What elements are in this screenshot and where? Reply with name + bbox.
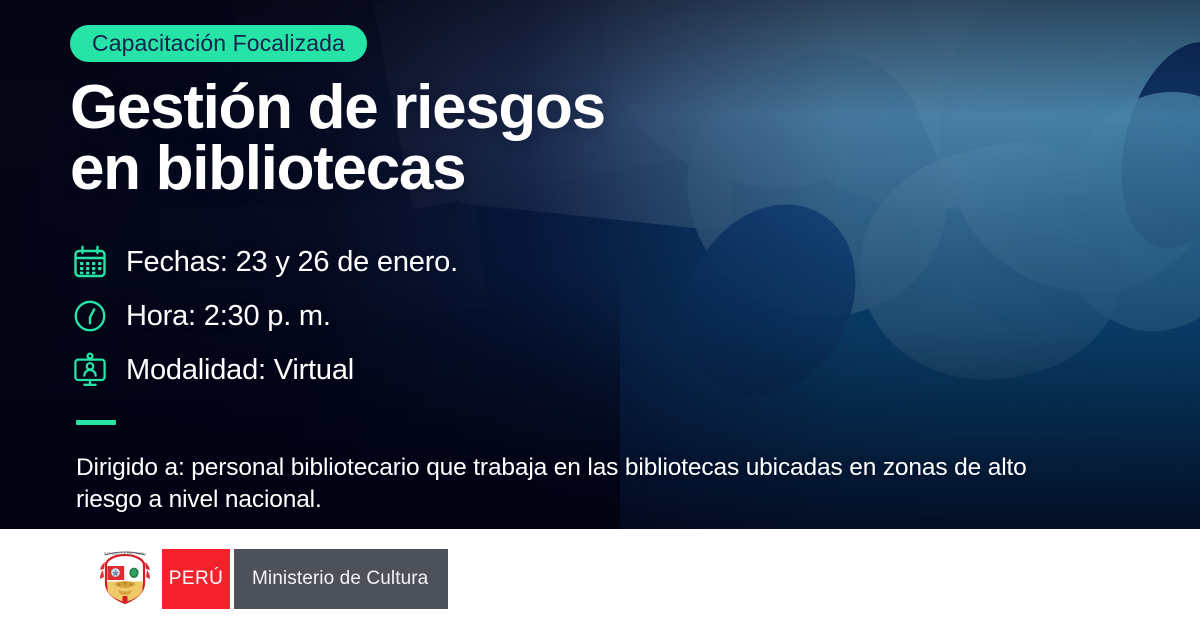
clock-icon bbox=[70, 296, 110, 336]
page-title-line-1: Gestión de riesgos bbox=[70, 78, 790, 139]
hero-banner: Capacitación Focalizada Gestión de riesg… bbox=[0, 0, 1200, 529]
ministry-label: Ministerio de Cultura bbox=[234, 549, 448, 609]
page-title: Gestión de riesgos en bibliotecas bbox=[70, 78, 790, 200]
category-badge: Capacitación Focalizada bbox=[70, 25, 367, 62]
detail-row-modality: Modalidad: Virtual bbox=[70, 344, 458, 396]
detail-row-time: Hora: 2:30 p. m. bbox=[70, 290, 458, 342]
event-details-list: Fechas: 23 y 26 de enero. Hora: 2:30 p. … bbox=[70, 236, 458, 398]
ministry-logo: REPUBLICA DEL PERU PERÚ Ministerio de Cu… bbox=[96, 549, 448, 609]
detail-text-time: Hora: 2:30 p. m. bbox=[126, 300, 331, 333]
video-monitor-icon bbox=[70, 350, 110, 390]
detail-row-dates: Fechas: 23 y 26 de enero. bbox=[70, 236, 458, 288]
peru-coat-of-arms-icon: REPUBLICA DEL PERU bbox=[96, 549, 154, 609]
audience-description: Dirigido a: personal bibliotecario que t… bbox=[76, 452, 1096, 517]
calendar-icon bbox=[70, 242, 110, 282]
hero-content: Capacitación Focalizada Gestión de riesg… bbox=[0, 0, 1200, 529]
page-title-line-2: en bibliotecas bbox=[70, 139, 790, 200]
peru-label: PERÚ bbox=[162, 549, 230, 609]
detail-text-modality: Modalidad: Virtual bbox=[126, 354, 354, 387]
promo-poster: Capacitación Focalizada Gestión de riesg… bbox=[0, 0, 1200, 628]
detail-text-dates: Fechas: 23 y 26 de enero. bbox=[126, 246, 458, 279]
section-divider bbox=[76, 420, 116, 425]
footer-bar: REPUBLICA DEL PERU PERÚ Ministerio de Cu… bbox=[0, 529, 1200, 628]
svg-text:REPUBLICA DEL PERU: REPUBLICA DEL PERU bbox=[104, 552, 146, 556]
